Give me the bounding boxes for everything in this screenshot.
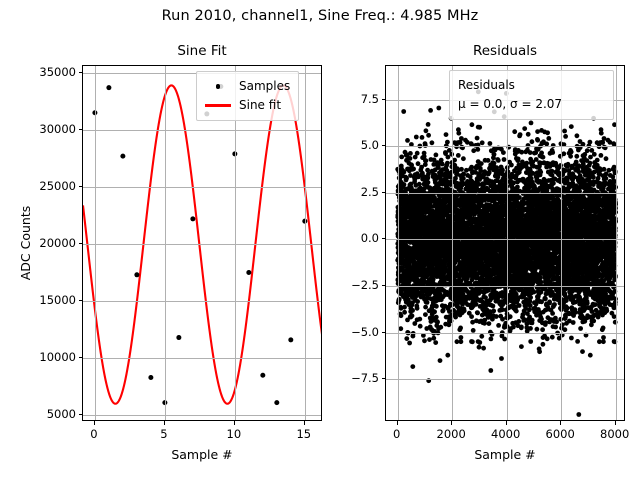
residual-point	[438, 325, 443, 330]
residual-point	[426, 122, 431, 127]
residual-point	[401, 109, 406, 114]
residual-point	[417, 317, 422, 322]
residual-point	[479, 334, 484, 339]
residual-point	[515, 185, 520, 190]
residual-point	[404, 336, 409, 341]
residual-point	[411, 167, 416, 172]
residual-point	[445, 161, 450, 166]
residual-point	[435, 320, 440, 325]
residual-point	[445, 353, 450, 358]
sine-fit-line-icon	[203, 104, 233, 106]
residual-point	[407, 341, 412, 346]
x-axis-label-sample-left: Sample #	[82, 447, 322, 462]
residual-point	[421, 333, 426, 338]
matplotlib-figure: Run 2010, channel1, Sine Freq.: 4.985 MH…	[0, 0, 640, 480]
residual-point	[459, 339, 464, 344]
residual-point	[414, 135, 419, 140]
residual-point	[479, 161, 484, 166]
residual-point	[528, 295, 533, 300]
residual-point	[422, 154, 427, 159]
residual-point	[511, 325, 516, 330]
residual-point	[458, 326, 463, 331]
legend-entry-samples: Samples	[203, 77, 290, 96]
figure-title: Run 2010, channel1, Sine Freq.: 4.985 MH…	[0, 8, 640, 24]
residual-point	[470, 339, 475, 344]
residual-point	[410, 364, 415, 369]
residual-point	[405, 138, 410, 143]
residual-point	[456, 153, 461, 158]
sample-point	[246, 270, 251, 275]
residual-point	[481, 346, 486, 351]
residual-point	[428, 108, 433, 113]
sample-point	[260, 373, 265, 378]
residual-point	[426, 180, 431, 185]
residual-point	[527, 307, 532, 312]
legend-label-samples: Samples	[233, 78, 290, 95]
residual-point	[518, 132, 523, 137]
residual-point	[432, 309, 437, 314]
residual-point	[422, 338, 427, 343]
residual-point	[415, 306, 420, 311]
residual-point	[420, 135, 425, 140]
residual-point	[496, 323, 501, 328]
residual-point	[416, 161, 421, 166]
residual-point	[529, 121, 534, 126]
residual-point	[436, 106, 441, 111]
residual-point	[477, 345, 482, 350]
residual-point	[423, 305, 428, 310]
residual-point	[501, 150, 506, 155]
residual-point	[499, 356, 504, 361]
residual-point	[402, 310, 407, 315]
residual-point	[459, 335, 464, 340]
residual-point	[434, 304, 439, 309]
residual-point	[456, 131, 461, 136]
sample-point	[176, 335, 181, 340]
residual-point	[475, 311, 480, 316]
residual-point	[440, 162, 445, 167]
sample-point	[190, 216, 195, 221]
residual-point	[431, 336, 436, 341]
residual-point	[445, 140, 450, 145]
residual-point	[528, 326, 533, 331]
residual-point	[402, 305, 407, 310]
gridline-horizontal	[83, 301, 321, 302]
residual-point	[427, 337, 432, 342]
residual-point	[475, 147, 480, 152]
subplot-title-residuals: Residuals	[385, 43, 625, 59]
residual-point	[459, 136, 464, 141]
residual-point	[491, 309, 496, 314]
residual-point	[459, 167, 464, 172]
residual-point	[512, 129, 517, 134]
sample-point	[134, 272, 139, 277]
residual-point	[502, 157, 507, 162]
residual-point	[514, 309, 519, 314]
residual-point	[478, 168, 483, 173]
residual-point	[404, 176, 409, 181]
sine-fit-legend: Samples Sine fit	[196, 71, 299, 121]
residual-point	[526, 132, 531, 137]
sample-point	[106, 85, 111, 90]
residual-point	[491, 304, 496, 309]
residual-point	[528, 339, 533, 344]
gridline-horizontal	[83, 415, 321, 416]
legend-entry-sine-fit: Sine fit	[203, 96, 290, 115]
residual-point	[528, 150, 533, 155]
residual-point	[517, 195, 522, 200]
residual-point	[415, 299, 420, 304]
residual-point	[425, 300, 430, 305]
residual-point	[480, 140, 485, 145]
residual-point	[486, 158, 491, 163]
residual-point	[470, 122, 475, 127]
residual-point	[425, 176, 430, 181]
residual-point	[399, 155, 404, 160]
residual-point	[462, 308, 467, 313]
residual-point	[530, 318, 535, 323]
residual-point	[492, 161, 497, 166]
residual-point	[530, 139, 535, 144]
residual-point	[475, 136, 480, 141]
sample-point	[148, 375, 153, 380]
residual-point	[477, 125, 482, 130]
residual-point	[494, 314, 499, 319]
residual-point	[398, 326, 403, 331]
residual-point	[430, 140, 435, 145]
residual-point	[471, 148, 476, 153]
residual-point	[461, 176, 466, 181]
residual-point	[492, 152, 497, 157]
residual-point	[496, 158, 501, 163]
residual-point	[519, 325, 524, 330]
residual-point	[424, 128, 429, 133]
residual-point	[517, 303, 522, 308]
residual-point	[489, 337, 494, 342]
residual-point	[434, 153, 439, 158]
residual-point	[402, 182, 407, 187]
legend-label-sine-fit: Sine fit	[233, 97, 281, 114]
residual-point	[410, 313, 415, 318]
residual-point	[500, 317, 505, 322]
gridline-horizontal	[83, 358, 321, 359]
residual-point	[433, 340, 438, 345]
gridline-vertical	[95, 66, 96, 420]
residual-point	[469, 165, 474, 170]
residual-point	[524, 161, 529, 166]
residual-point	[487, 321, 492, 326]
residual-point	[408, 156, 413, 161]
residual-point	[399, 313, 404, 318]
residual-point	[516, 157, 521, 162]
residual-point	[516, 319, 521, 324]
residual-point	[519, 150, 524, 155]
samples-marker-icon	[203, 84, 233, 88]
residual-point	[509, 163, 514, 168]
residual-point	[423, 312, 428, 317]
subplot-title-sine-fit: Sine Fit	[82, 43, 322, 59]
gridline-horizontal	[83, 130, 321, 131]
gridline-vertical	[165, 66, 166, 420]
residual-point	[418, 324, 423, 329]
residual-point	[519, 344, 524, 349]
residual-point	[453, 315, 458, 320]
residual-point	[469, 314, 474, 319]
residual-point	[522, 126, 527, 131]
residual-point	[488, 368, 493, 373]
residual-point	[424, 158, 429, 163]
sample-point	[120, 154, 125, 159]
sample-point	[274, 400, 279, 405]
residual-point	[461, 156, 466, 161]
residual-point	[426, 133, 431, 138]
residual-point	[434, 315, 439, 320]
residual-point	[415, 151, 420, 156]
residual-point	[444, 132, 449, 137]
residual-point	[508, 314, 513, 319]
residual-point	[438, 358, 443, 363]
residual-point	[477, 340, 482, 345]
residual-point	[511, 180, 516, 185]
residual-point	[410, 308, 415, 313]
residual-point	[408, 151, 413, 156]
